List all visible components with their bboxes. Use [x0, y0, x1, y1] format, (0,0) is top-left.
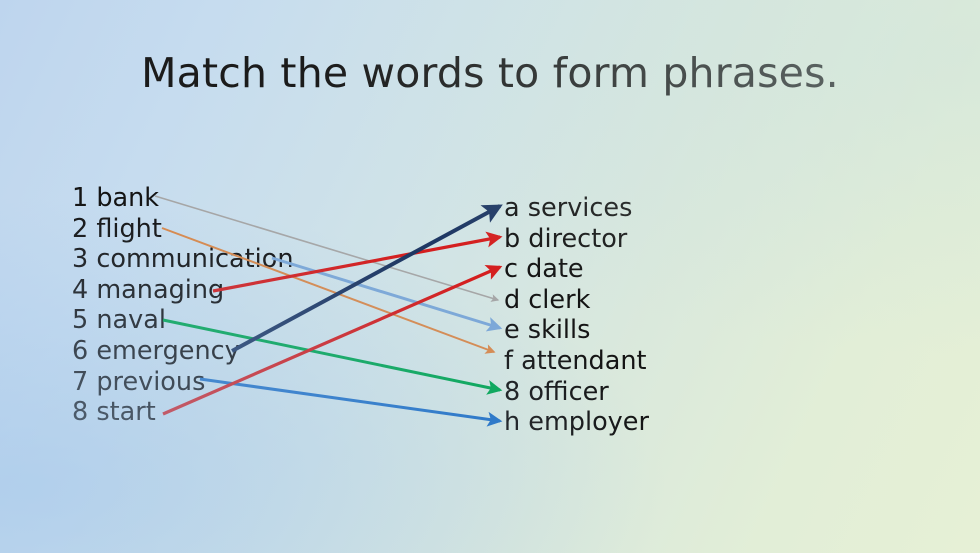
- list-item[interactable]: e skills: [504, 315, 649, 346]
- list-item[interactable]: b director: [504, 224, 649, 255]
- connector-communication-to-skills: [272, 258, 500, 328]
- list-item[interactable]: 1 bank: [72, 183, 294, 214]
- left-word-column: 1 bank 2 flight 3 communication 4 managi…: [72, 183, 294, 428]
- list-item[interactable]: 7 previous: [72, 367, 294, 398]
- right-word-column: a services b director c date d clerk e s…: [504, 193, 649, 438]
- list-item[interactable]: d clerk: [504, 285, 649, 316]
- list-item[interactable]: h employer: [504, 407, 649, 438]
- list-item[interactable]: 8 start: [72, 397, 294, 428]
- list-item[interactable]: 3 communication: [72, 244, 294, 275]
- page-title: Match the words to form phrases.: [0, 50, 980, 97]
- list-item[interactable]: a services: [504, 193, 649, 224]
- list-item[interactable]: 8 officer: [504, 377, 649, 408]
- list-item[interactable]: 2 flight: [72, 214, 294, 245]
- list-item[interactable]: f attendant: [504, 346, 649, 377]
- list-item[interactable]: 6 emergency: [72, 336, 294, 367]
- list-item[interactable]: 5 naval: [72, 305, 294, 336]
- list-item[interactable]: 4 managing: [72, 275, 294, 306]
- list-item[interactable]: c date: [504, 254, 649, 285]
- slide-canvas: Match the words to form phrases. 1 bank …: [0, 0, 980, 553]
